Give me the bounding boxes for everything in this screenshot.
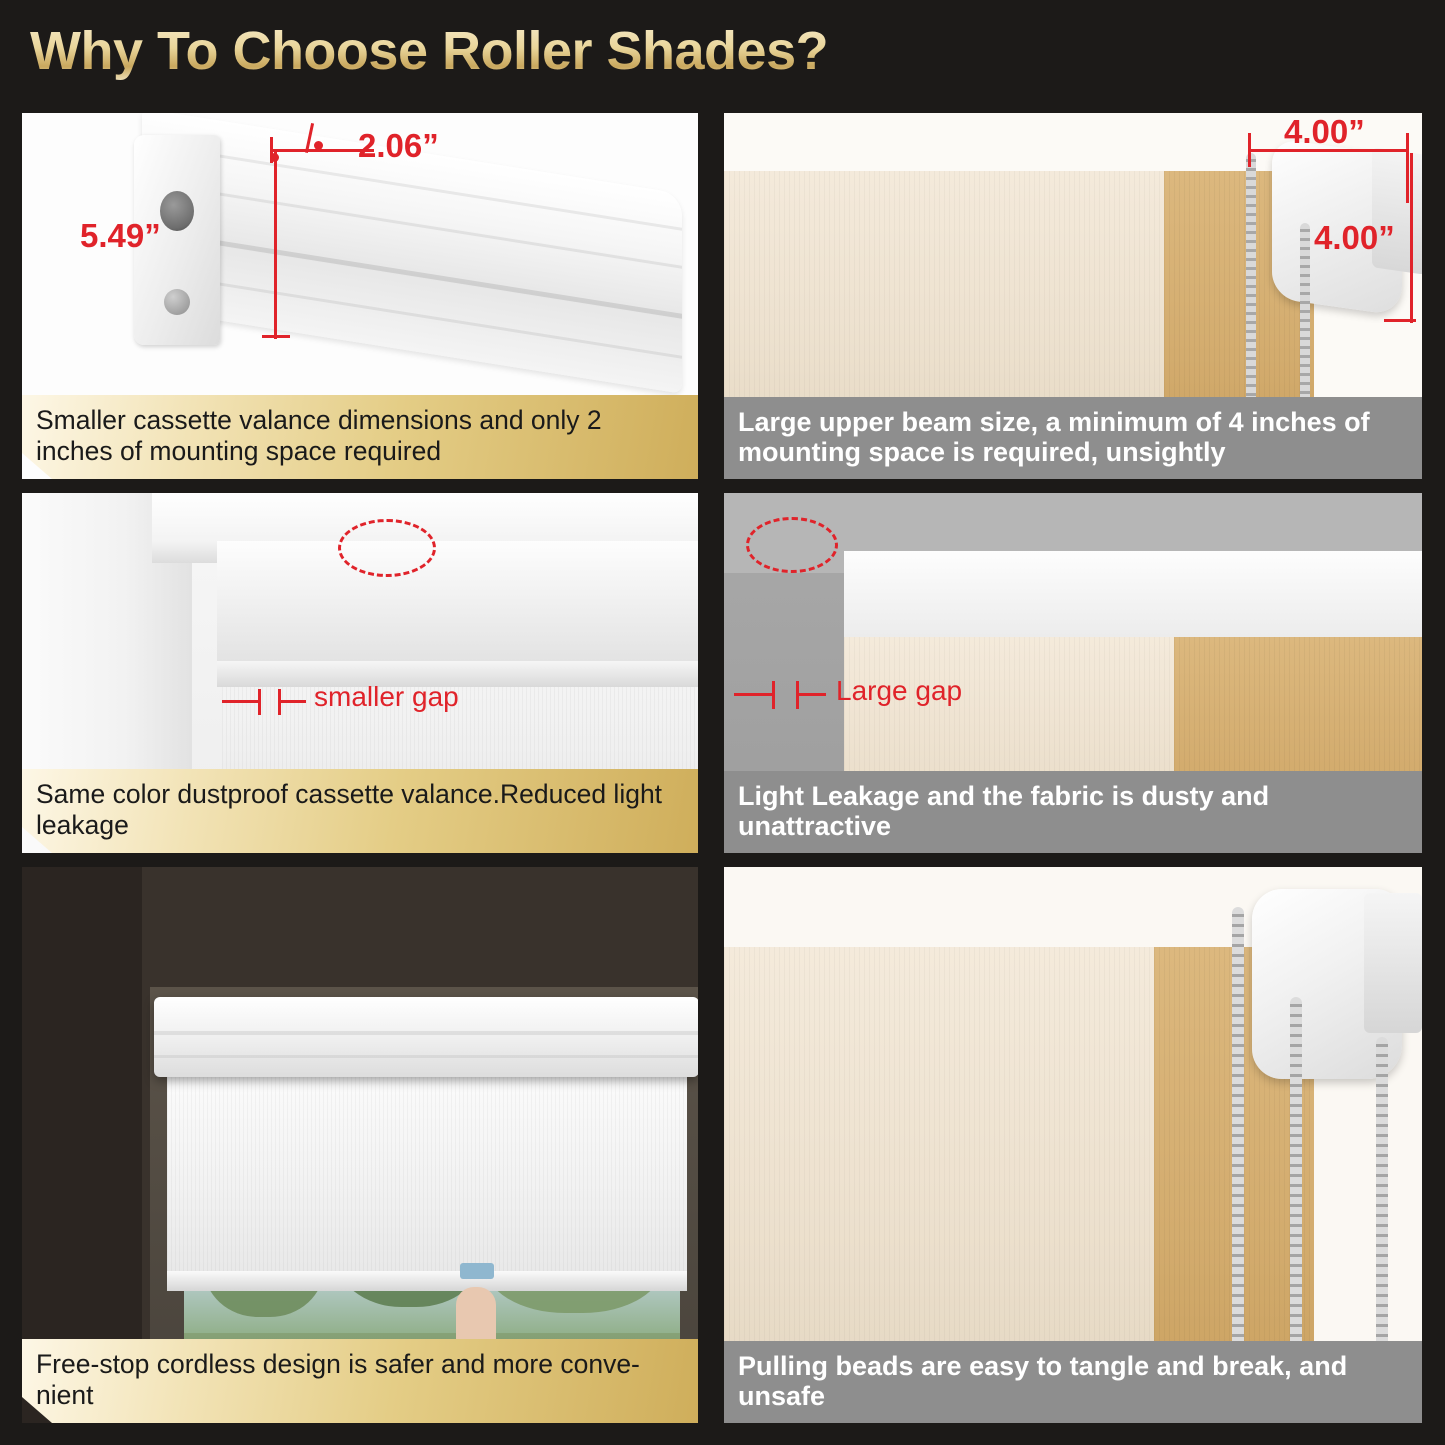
gap-arrow-right xyxy=(798,693,826,696)
beam-height-label: 4.00” xyxy=(1314,219,1395,257)
valance-mount-hole xyxy=(160,191,194,231)
roller-bracket xyxy=(1364,893,1422,1033)
comparison-cell-1: 2.06” 5.49” Smaller cassette valance dim… xyxy=(22,113,698,479)
shade-fabric-white xyxy=(167,1075,687,1275)
comparison-cell-5: Free-stop cordless design is safer and m… xyxy=(22,867,698,1423)
gap-label: smaller gap xyxy=(314,681,459,713)
gap-label: Large gap xyxy=(836,675,962,707)
beam-width-label: 4.00” xyxy=(1284,113,1365,151)
roller-headrail xyxy=(844,551,1422,637)
gap-highlight-circle xyxy=(746,517,838,573)
beam-width-tick-left xyxy=(1248,133,1251,167)
cell-6-caption: Pulling beads are easy to tangle and bre… xyxy=(724,1341,1422,1423)
beam-width-tick-right xyxy=(1406,133,1409,203)
page-title: Why To Choose Roller Shades? xyxy=(30,20,828,82)
comparison-cell-2: 4.00” 4.00” Large upper beam size, a min… xyxy=(724,113,1422,479)
beam-height-tick-bottom xyxy=(1384,319,1416,322)
cell-1-caption: Smaller cassette valance dimensions and … xyxy=(22,395,698,479)
width-dimension-dot-b xyxy=(314,141,323,150)
bead-chain-right xyxy=(1290,997,1302,1387)
gap-arrow-right xyxy=(280,700,306,703)
width-dimension-label: 2.06” xyxy=(358,127,439,165)
gap-arrow-left xyxy=(734,693,772,696)
gap-arrow-left xyxy=(222,700,258,703)
beam-height-line xyxy=(1410,153,1413,323)
product-infographic: Why To Choose Roller Shades? xyxy=(0,0,1445,1445)
bottom-rail xyxy=(167,1271,687,1291)
comparison-cell-4: Large gap Light Leakage and the fabric i… xyxy=(724,493,1422,853)
bead-chain-left xyxy=(1232,907,1244,1387)
cell-2-caption: Large upper beam size, a minimum of 4 in… xyxy=(724,397,1422,479)
bead-chain-far-right xyxy=(1376,1037,1388,1387)
height-dimension-tick-bottom xyxy=(262,335,290,338)
cell-3-caption: Same color dustproof cassette valance.Re… xyxy=(22,769,698,853)
comparison-cell-3: smaller gap Same color dustproof cassett… xyxy=(22,493,698,853)
cassette-valance-installed xyxy=(154,997,698,1077)
height-dimension-label: 5.49” xyxy=(80,217,161,255)
cell-5-caption: Free-stop cordless design is safer and m… xyxy=(22,1339,698,1423)
shade-pull-tab xyxy=(460,1263,494,1279)
height-dimension-line xyxy=(274,149,277,339)
comparison-grid: 2.06” 5.49” Smaller cassette valance dim… xyxy=(22,113,1422,1423)
gap-marker-line-left xyxy=(258,689,261,715)
gap-highlight-circle xyxy=(338,519,436,577)
gap-marker-line-left xyxy=(772,681,775,709)
valance-screw xyxy=(164,289,190,315)
cell-4-caption: Light Leakage and the fabric is dusty an… xyxy=(724,771,1422,853)
cassette-valance-installed xyxy=(217,541,698,661)
comparison-cell-6: Pulling beads are easy to tangle and bre… xyxy=(724,867,1422,1423)
